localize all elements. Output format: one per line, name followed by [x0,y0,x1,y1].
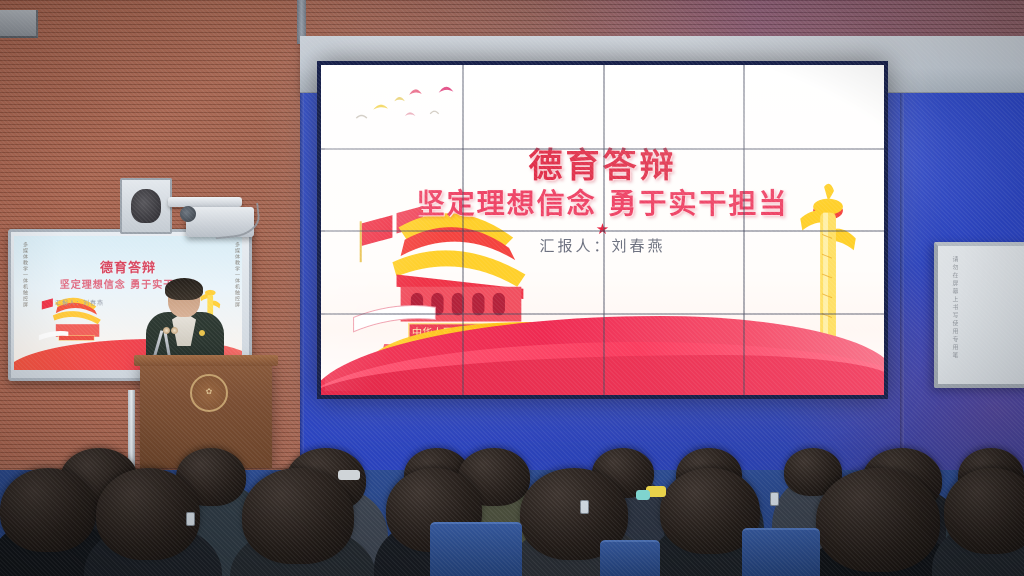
backdrop-seam-left [300,93,304,513]
presenter-hair [165,278,203,300]
slide-subtitle: 坚定理想信念 勇于实干担当 [321,182,884,222]
left-board-subtitle: 坚定理想信念 勇于实干担当 [14,276,242,291]
wall-speaker-cone-icon [131,189,161,223]
presentation-slide: 中华人民共和国万岁 [321,65,884,395]
slide-title: 德育答辩 [321,138,884,187]
projector-lens-icon [180,206,196,222]
head [96,468,200,560]
left-board-title: 德育答辩 [14,257,242,276]
left-board-side-text-right: 多媒体教学一体机触控屏 [228,242,240,364]
flying-birds-icon [338,78,484,131]
presenter-badge [199,330,205,336]
head [816,468,940,572]
hair-clip [338,470,360,480]
hair-clip [636,490,650,500]
wall-vent [0,10,38,38]
seat[interactable] [430,522,522,576]
head [242,468,354,564]
microphone-head-1 [163,327,170,334]
screenshot-root: 中华人民共和国万岁 [0,0,1024,576]
head [944,468,1024,554]
seat[interactable] [600,540,660,576]
phone-icon [580,500,589,514]
right-whiteboard-side-text: 请勿在屏幕上书写使用专用笔 [944,256,958,366]
phone-icon [770,492,779,506]
main-screen[interactable]: 中华人民共和国万岁 [317,61,888,399]
podium-top [134,355,278,366]
seat[interactable] [742,528,820,576]
podium-emblem: ✿ [190,374,228,412]
left-board-presenter: 汇报人：刘春燕 [55,298,104,307]
slide-presenter: 汇报人：刘春燕 [321,235,884,256]
head [0,468,96,552]
microphone-head-2 [171,327,178,334]
phone-icon [186,512,195,526]
left-board-side-text: 多媒体教学一体机触控屏 [16,242,28,364]
